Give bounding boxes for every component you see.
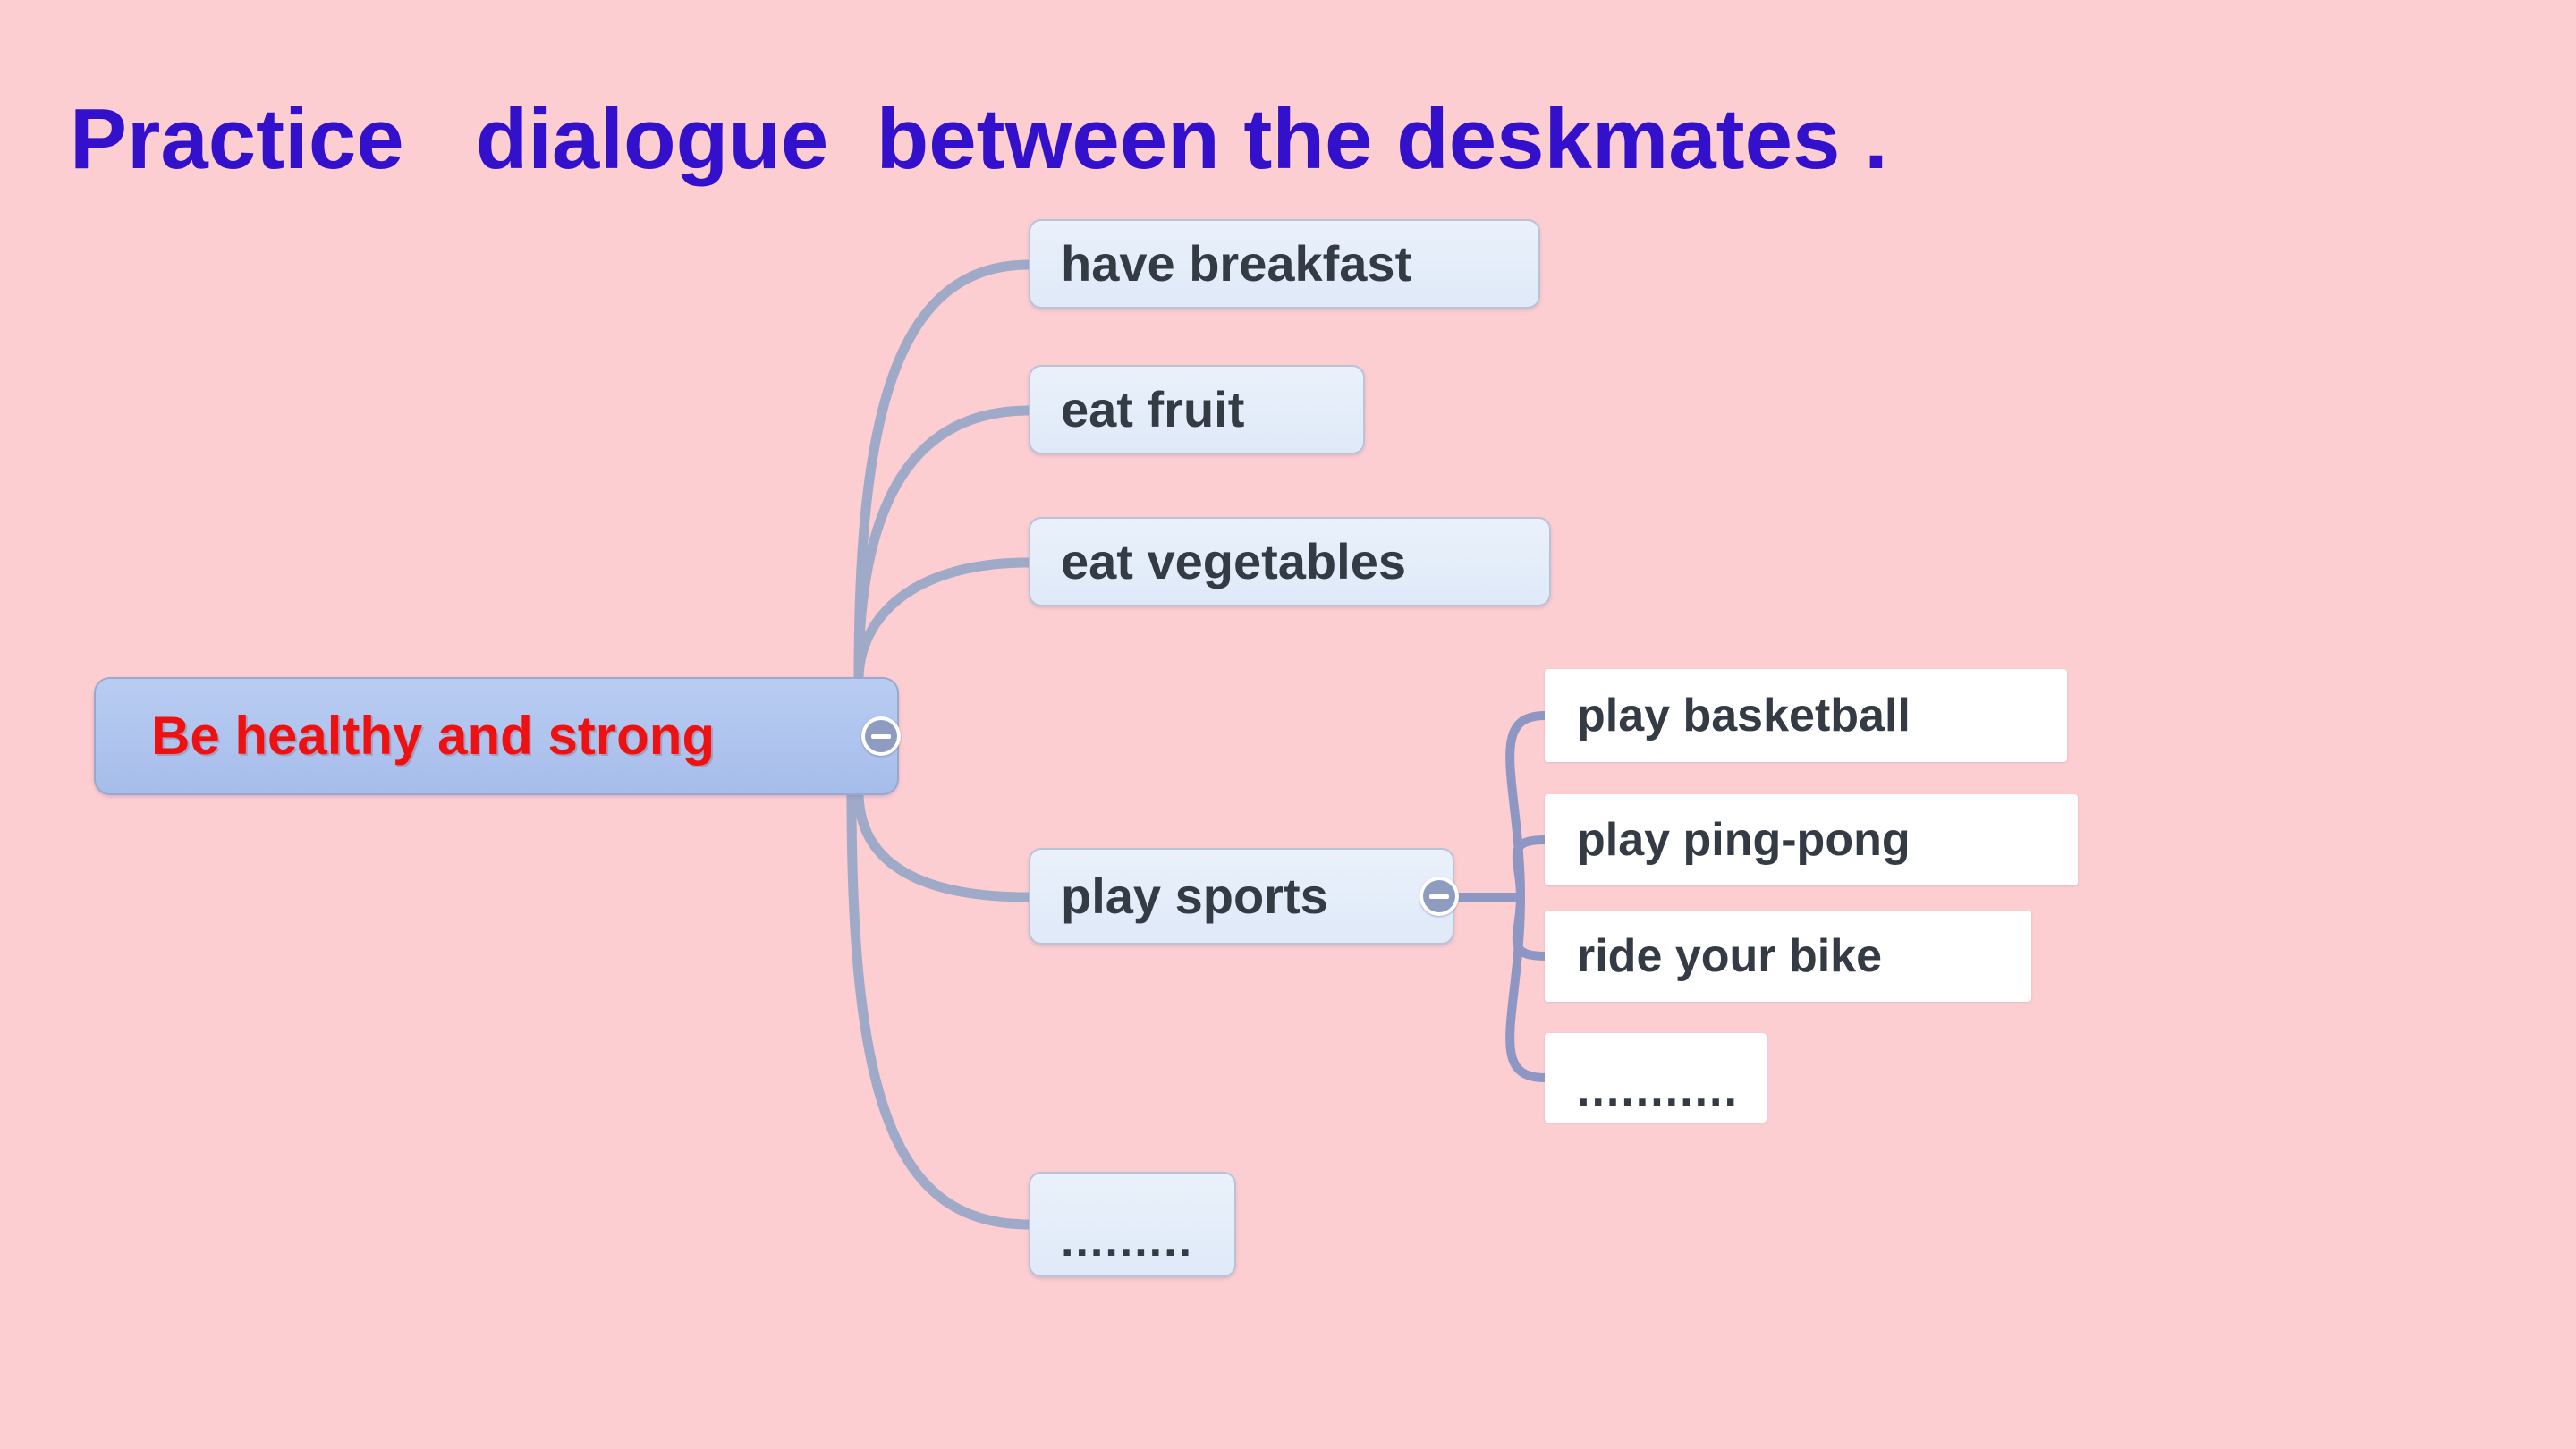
mindmap-node-ride-your-bike[interactable]: ride your bike — [1545, 911, 2031, 1002]
node-label-play-ping-pong: play ping-pong — [1577, 817, 1911, 863]
mindmap-node-ellipsis-sports[interactable]: ........... — [1545, 1033, 1767, 1123]
node-label-ellipsis-main: ......... — [1061, 1214, 1193, 1267]
connector-sports-dots — [1510, 897, 1545, 1078]
mindmap-canvas: Practice dialogue between the deskmates … — [0, 0, 2576, 1449]
connector-sports-play-ping-pong — [1517, 840, 1545, 897]
minus-glyph — [871, 734, 891, 739]
mindmap-node-play-sports[interactable]: play sports — [1029, 848, 1454, 945]
node-label-play-sports: play sports — [1061, 871, 1328, 921]
connector-root-have-breakfast — [859, 265, 1029, 677]
minus-circle-icon-root[interactable] — [861, 716, 901, 756]
node-label-have-breakfast: have breakfast — [1061, 239, 1411, 289]
connector-root-dots-main — [852, 795, 1029, 1224]
connector-root-eat-fruit — [859, 411, 1029, 677]
connector-root-eat-vegetables — [859, 563, 1029, 677]
mindmap-node-ellipsis-main[interactable]: ......... — [1029, 1172, 1236, 1277]
root-node-label: Be healthy and strong — [151, 709, 715, 763]
node-label-ride-your-bike: ride your bike — [1577, 933, 1882, 979]
node-label-eat-vegetables: eat vegetables — [1061, 537, 1406, 587]
node-label-play-basketball: play basketball — [1577, 692, 1911, 739]
mindmap-node-play-ping-pong[interactable]: play ping-pong — [1545, 794, 2078, 885]
mindmap-node-have-breakfast[interactable]: have breakfast — [1029, 219, 1540, 309]
minus-circle-icon-play-sports[interactable] — [1419, 877, 1459, 916]
mindmap-node-eat-vegetables[interactable]: eat vegetables — [1029, 517, 1551, 606]
mindmap-node-play-basketball[interactable]: play basketball — [1545, 669, 2067, 762]
mindmap-node-eat-fruit[interactable]: eat fruit — [1029, 365, 1365, 454]
minus-glyph — [1429, 894, 1449, 899]
connector-root-play-sports — [859, 795, 1029, 897]
page-title: Practice dialogue between the deskmates … — [70, 95, 1888, 185]
connector-sports-ride-your-bike — [1517, 897, 1545, 956]
node-label-eat-fruit: eat fruit — [1061, 385, 1244, 435]
mindmap-root-node[interactable]: Be healthy and strong — [94, 677, 899, 795]
node-label-ellipsis-sports: ........... — [1577, 1063, 1739, 1117]
connector-sports-play-basketball — [1510, 716, 1545, 897]
